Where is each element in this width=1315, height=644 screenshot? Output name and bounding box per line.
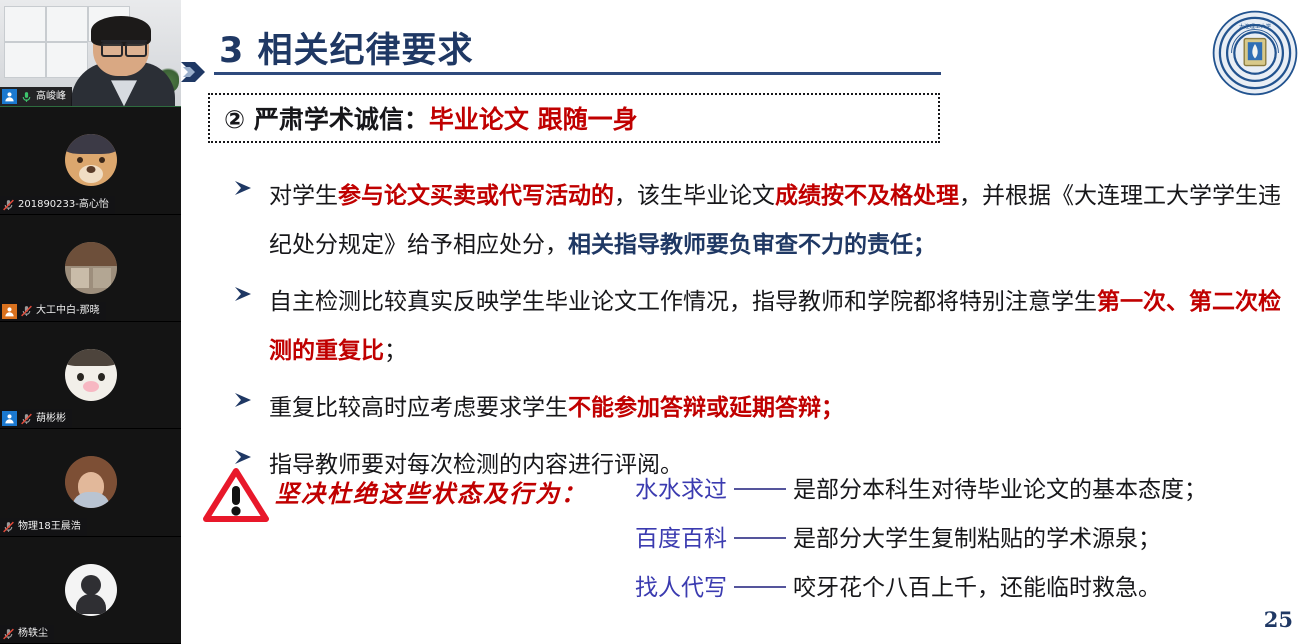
bullet-list: 对学生参与论文买卖或代写活动的，该生毕业论文成绩按不及格处理，并根据《大连理工大… — [221, 172, 1291, 498]
list-item: 自主检测比较真实反映学生毕业论文工作情况，指导教师和学院都将特别注意学生第一次、… — [221, 278, 1291, 376]
person-avatar — [65, 564, 117, 616]
participant-name-badge: 201890233-高心怡 — [0, 196, 115, 214]
participant-video-rail: 高峻峰 201890233-高心怡 — [0, 0, 181, 644]
text-segment: 对学生 — [269, 183, 338, 209]
participant-tile[interactable]: 201890233-高心怡 — [0, 107, 181, 214]
em-dash-separator — [734, 488, 786, 490]
callout-prefix: ② 严肃学术诚信： — [224, 105, 429, 134]
person-icon — [2, 304, 17, 319]
person-icon — [2, 411, 17, 426]
participant-tile[interactable]: 大工中白-那晓 — [0, 215, 181, 322]
shelf-unit — [4, 42, 46, 78]
shelf-unit — [4, 6, 46, 42]
participant-name-badge: 葫彬彬 — [0, 409, 72, 428]
mic-muted-icon — [2, 520, 15, 534]
chevron-arrow-icon — [181, 59, 217, 85]
text-segment-red: 成绩按不及格处理 — [775, 183, 959, 209]
list-item: 对学生参与论文买卖或代写活动的，该生毕业论文成绩按不及格处理，并根据《大连理工大… — [221, 172, 1291, 270]
mic-muted-icon — [20, 412, 33, 426]
callout-highlight: 毕业论文 跟随一身 — [429, 105, 638, 134]
university-emblem: 大连理工大学 — [1210, 8, 1300, 98]
participant-tile[interactable]: 高峻峰 — [0, 0, 181, 107]
speaker-figure — [71, 20, 175, 106]
warning-row-key: 水水求过 — [635, 470, 727, 504]
warning-triangle-icon — [203, 468, 269, 522]
mic-muted-icon — [2, 627, 15, 641]
participant-name-badge: 物理18王晨浩 — [0, 518, 87, 536]
text-segment: 重复比较高时应考虑要求学生 — [269, 395, 568, 421]
callout-text: ② 严肃学术诚信：毕业论文 跟随一身 — [224, 100, 638, 136]
participant-name-badge: 高峻峰 — [0, 87, 72, 106]
title-underline — [214, 72, 941, 75]
text-segment: 自主检测比较真实反映学生毕业论文工作情况，指导教师和学院都将特别注意学生 — [269, 289, 1097, 315]
dog-avatar — [65, 134, 117, 186]
girl-avatar — [65, 456, 117, 508]
warning-row-value: 是部分大学生复制粘贴的学术源泉； — [793, 519, 1161, 553]
chevron-bullet-icon — [233, 447, 255, 467]
presentation-screen: 高峻峰 201890233-高心怡 — [0, 0, 1315, 644]
room-photo-avatar — [65, 242, 117, 294]
list-item-text: 对学生参与论文买卖或代写活动的，该生毕业论文成绩按不及格处理，并根据《大连理工大… — [269, 183, 1281, 258]
text-segment-navy: 相关指导教师要负审查不力的责任； — [568, 232, 936, 258]
participant-name: 高峻峰 — [36, 90, 66, 104]
chevron-bullet-icon — [233, 178, 255, 198]
list-item-text: 重复比较高时应考虑要求学生不能参加答辩或延期答辩； — [269, 395, 844, 421]
participant-name: 大工中白-那晓 — [36, 304, 100, 318]
chevron-bullet-icon — [233, 284, 255, 304]
mic-muted-icon — [20, 304, 33, 318]
warning-row-key: 百度百科 — [635, 519, 727, 553]
warning-rows: 水水求过 是部分本科生对待毕业论文的基本态度； 百度百科 是部分大学生复制粘贴的… — [635, 470, 1305, 617]
chevron-bullet-icon — [233, 390, 255, 410]
warning-row: 找人代写 咬牙花个八百上千，还能临时救急。 — [635, 568, 1305, 617]
warning-row-key: 找人代写 — [635, 568, 727, 602]
slide-canvas: 3 相关纪律要求 大连理工大学 ② 严肃学术诚信：毕 — [181, 0, 1315, 644]
participant-name: 物理18王晨浩 — [18, 520, 81, 534]
participant-tile[interactable]: 杨轶尘 — [0, 537, 181, 644]
cat-avatar — [65, 349, 117, 401]
text-segment-red: 不能参加答辩或延期答辩； — [568, 395, 844, 421]
callout-box: ② 严肃学术诚信：毕业论文 跟随一身 — [208, 93, 940, 143]
participant-name-badge: 大工中白-那晓 — [0, 302, 106, 321]
text-segment-red: 参与论文买卖或代写活动的 — [338, 183, 614, 209]
participant-name: 杨轶尘 — [18, 627, 48, 641]
list-item-text: 自主检测比较真实反映学生毕业论文工作情况，指导教师和学院都将特别注意学生第一次、… — [269, 289, 1281, 364]
participant-tile[interactable]: 物理18王晨浩 — [0, 429, 181, 536]
participant-name: 葫彬彬 — [36, 412, 66, 426]
participant-name-badge: 杨轶尘 — [0, 625, 54, 643]
text-segment: ； — [384, 338, 407, 364]
person-icon — [2, 89, 17, 104]
em-dash-separator — [734, 586, 786, 588]
mic-muted-icon — [2, 198, 15, 212]
participant-tile[interactable]: 葫彬彬 — [0, 322, 181, 429]
page-title: 3 相关纪律要求 — [219, 22, 474, 73]
participant-name: 201890233-高心怡 — [18, 198, 109, 212]
text-segment: ，该生毕业论文 — [614, 183, 775, 209]
mic-on-icon — [20, 90, 33, 104]
svg-text:大连理工大学: 大连理工大学 — [1239, 22, 1272, 30]
page-number: 25 — [1264, 607, 1293, 632]
em-dash-separator — [734, 537, 786, 539]
warning-row-value: 是部分本科生对待毕业论文的基本态度； — [793, 470, 1207, 504]
list-item: 重复比较高时应考虑要求学生不能参加答辩或延期答辩； — [221, 384, 1291, 433]
warning-row: 水水求过 是部分本科生对待毕业论文的基本态度； — [635, 470, 1305, 519]
warning-heading: 坚决杜绝这些状态及行为： — [275, 474, 587, 509]
warning-row: 百度百科 是部分大学生复制粘贴的学术源泉； — [635, 519, 1305, 568]
warning-row-value: 咬牙花个八百上千，还能临时救急。 — [793, 568, 1161, 602]
